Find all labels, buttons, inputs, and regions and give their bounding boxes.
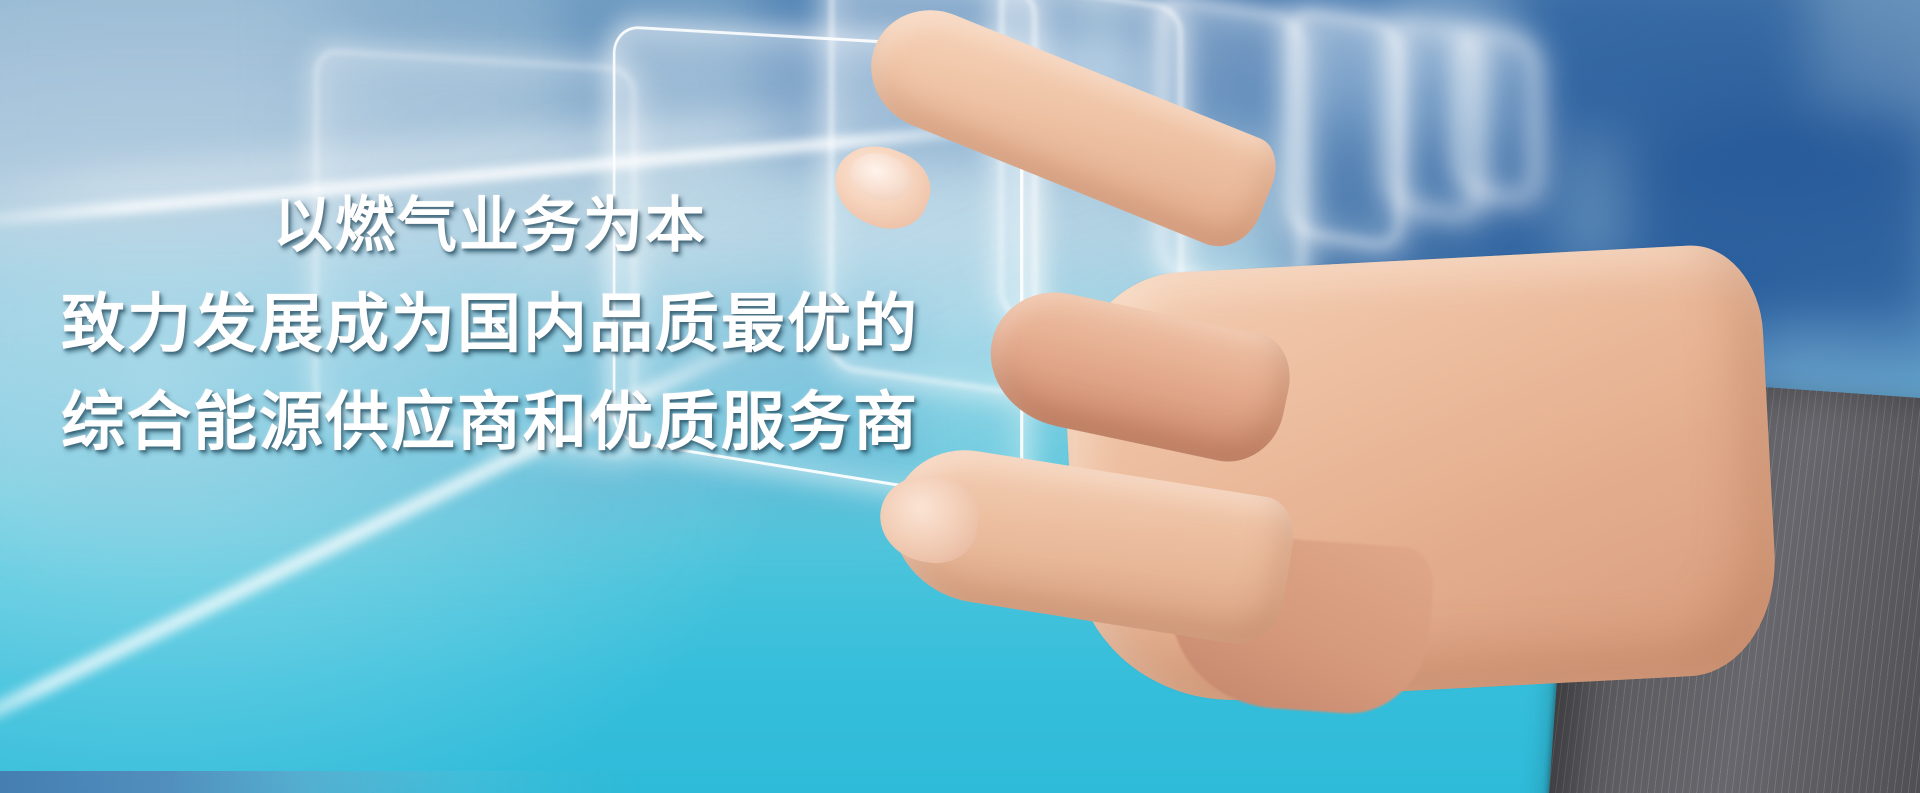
- slogan-line-2: 致力发展成为国内品质最优的: [0, 292, 980, 356]
- slogan-line-3: 综合能源供应商和优质服务商: [0, 390, 980, 454]
- hand-pointing-icon: [870, 110, 1920, 793]
- slogan-line-1: 以燃气业务为本: [0, 196, 980, 256]
- bottom-accent-strip: [0, 771, 640, 793]
- hero-banner: 以燃气业务为本 致力发展成为国内品质最优的 综合能源供应商和优质服务商: [0, 0, 1920, 793]
- slogan-block: 以燃气业务为本 致力发展成为国内品质最优的 综合能源供应商和优质服务商: [0, 196, 980, 454]
